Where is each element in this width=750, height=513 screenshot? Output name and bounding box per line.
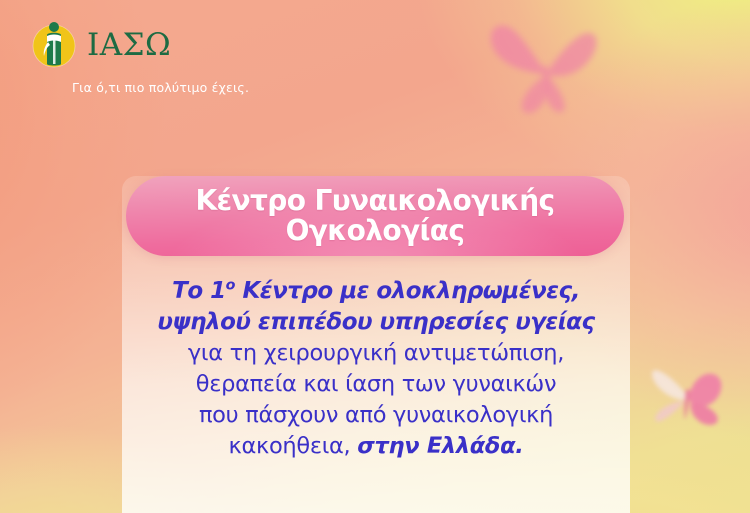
body-copy-ordinal-superscript: ο — [226, 277, 235, 293]
body-copy-line-3: για τη χειρουργική αντιμετώπιση, — [122, 338, 630, 369]
body-copy-line-5: που πάσχουν από γυναικολογική — [122, 400, 630, 431]
body-copy-line-2: υψηλού επιπέδου υπηρεσίες υγείας — [122, 307, 630, 338]
body-copy: Το 1ο Κέντρο με ολοκληρωμένες, υψηλού επ… — [122, 276, 630, 462]
poster-canvas: ΙΑΣΩ Για ό,τι πιο πολύτιμο έχεις. Κέντρο… — [0, 0, 750, 513]
iaso-figure-in-circle-logo-icon — [30, 20, 78, 68]
title-banner-line-1: Κέντρο Γυναικολογικής — [195, 184, 554, 217]
butterfly-icon-top-right — [477, 0, 611, 126]
body-copy-line-1-prefix: Το 1 — [172, 278, 226, 304]
brand-tagline: Για ό,τι πιο πολύτιμο έχεις. — [72, 80, 330, 95]
body-copy-line-1: Το 1ο Κέντρο με ολοκληρωμένες, — [122, 276, 630, 307]
body-copy-line-6: κακοήθεια, στην Ελλάδα. — [122, 431, 630, 462]
title-banner: Κέντρο Γυναικολογικής Ογκολογίας — [126, 176, 624, 256]
body-copy-line-6-regular: κακοήθεια, — [229, 433, 358, 459]
title-banner-text: Κέντρο Γυναικολογικής Ογκολογίας — [179, 186, 570, 246]
logo-lockup: ΙΑΣΩ — [30, 20, 330, 68]
title-banner-line-2: Ογκολογίας — [286, 214, 465, 247]
brand-header: ΙΑΣΩ Για ό,τι πιο πολύτιμο έχεις. — [30, 20, 330, 95]
body-copy-line-4: θεραπεία και ίαση των γυναικών — [122, 369, 630, 400]
body-copy-line-6-emphasis: στην Ελλάδα. — [357, 433, 523, 459]
butterfly-icon-bottom-right — [641, 357, 740, 440]
brand-wordmark: ΙΑΣΩ — [87, 30, 171, 61]
body-copy-line-1-suffix: Κέντρο με ολοκληρωμένες, — [235, 278, 580, 304]
